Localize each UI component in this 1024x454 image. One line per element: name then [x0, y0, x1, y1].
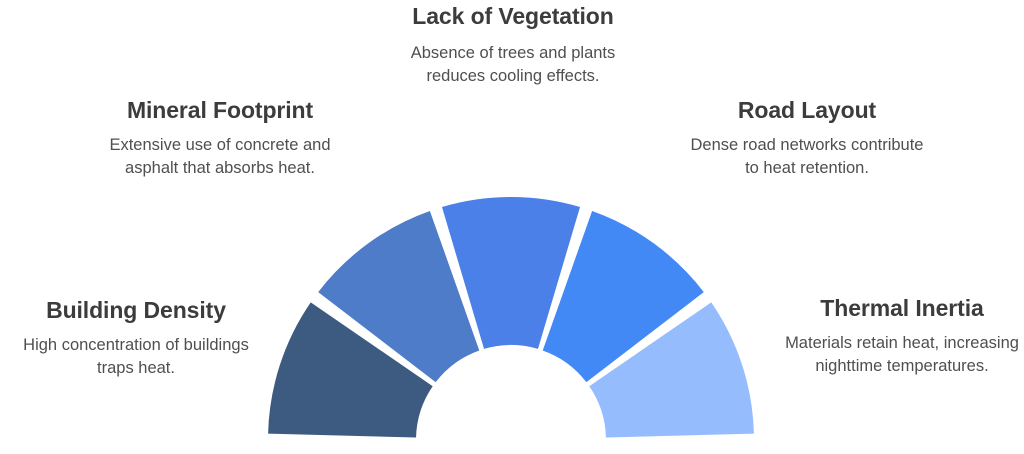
label-desc-building-density: High concentration of buildings traps he… — [8, 334, 264, 381]
label-desc-thermal-inertia: Materials retain heat, increasing nightt… — [780, 332, 1024, 379]
label-title-lack-of-vegetation: Lack of Vegetation — [397, 2, 629, 32]
label-title-mineral-footprint: Mineral Footprint — [94, 96, 346, 124]
label-title-thermal-inertia: Thermal Inertia — [780, 294, 1024, 322]
infographic-canvas: Building Density High concentration of b… — [0, 0, 1024, 454]
label-block-mineral-footprint: Mineral Footprint Extensive use of concr… — [94, 96, 346, 181]
label-desc-road-layout: Dense road networks contribute to heat r… — [688, 134, 926, 181]
label-block-thermal-inertia: Thermal Inertia Materials retain heat, i… — [780, 294, 1024, 379]
gauge-segment-group — [268, 197, 754, 438]
label-block-lack-of-vegetation: Lack of Vegetation Absence of trees and … — [397, 2, 629, 89]
label-block-building-density: Building Density High concentration of b… — [8, 296, 264, 381]
label-title-building-density: Building Density — [8, 296, 264, 324]
label-title-road-layout: Road Layout — [688, 96, 926, 124]
label-block-road-layout: Road Layout Dense road networks contribu… — [688, 96, 926, 181]
label-desc-mineral-footprint: Extensive use of concrete and asphalt th… — [94, 134, 346, 181]
label-desc-lack-of-vegetation: Absence of trees and plants reduces cool… — [397, 42, 629, 89]
